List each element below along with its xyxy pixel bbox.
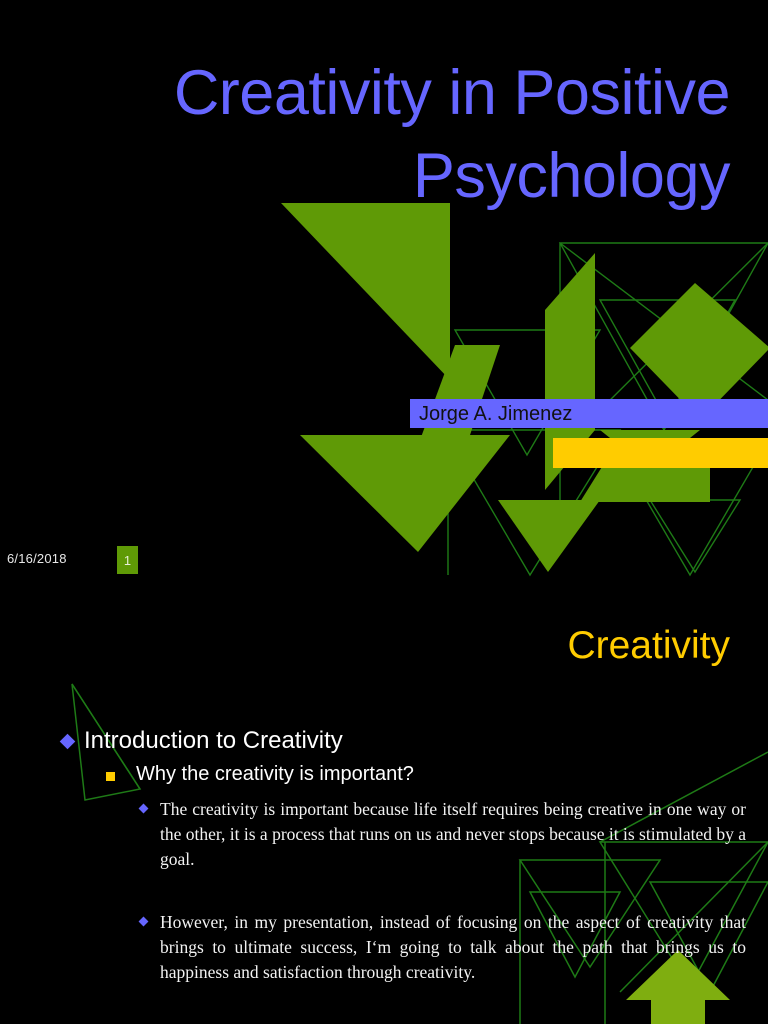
filled-trapezoid-bottom-right: [580, 462, 710, 502]
bullet-text: The creativity is important because life…: [160, 799, 746, 869]
bullet-item-level3: However, in my presentation, instead of …: [48, 910, 754, 986]
slide-1-footer-date: 6/16/2018: [7, 551, 67, 566]
outline-triangle-small-right: [650, 500, 740, 572]
outline-triangle-lower-right: [620, 455, 760, 575]
author-bar: Jorge A. Jimenez: [410, 399, 768, 428]
bullet-text: Why the creativity is important?: [136, 763, 414, 785]
slide-2-content-slide: Creativity Introduction to Creativity Wh…: [0, 592, 768, 1024]
filled-shapes-group: [281, 203, 768, 572]
slide-1-title-block: Creativity in Positive Psychology: [40, 52, 730, 218]
gold-accent-bar: [553, 438, 768, 468]
bullet-item-level3: The creativity is important because life…: [48, 797, 754, 873]
slide-2-heading: Creativity: [40, 625, 730, 668]
diamond-small-bullet-icon: [139, 804, 149, 814]
filled-triangle-big-topleft: [281, 203, 450, 380]
diamond-bullet-icon: [60, 734, 76, 750]
bullet-item-level2: Why the creativity is important?: [48, 762, 754, 787]
outline-triangle-center: [455, 330, 600, 455]
square-bullet-icon: [106, 772, 115, 781]
slide-deck-page: Creativity in Positive Psychology Jorge …: [0, 0, 768, 1024]
filled-triangle-bottom-center: [498, 500, 600, 572]
diamond-small-bullet-icon: [139, 916, 149, 926]
slide-2-bullet-list: Introduction to Creativity Why the creat…: [48, 726, 754, 985]
slide-1-title: Creativity in Positive Psychology: [40, 52, 730, 218]
outline-line-diag-b: [590, 243, 768, 420]
author-name: Jorge A. Jimenez: [410, 404, 572, 424]
outline-line-diag-a: [560, 243, 768, 400]
slide-1-title-slide: Creativity in Positive Psychology Jorge …: [0, 0, 768, 592]
bullet-item-level1: Introduction to Creativity: [48, 726, 754, 756]
filled-triangle-big-bottomleft: [300, 435, 510, 552]
bullet-text: Introduction to Creativity: [84, 727, 343, 754]
slide-1-page-number: 1: [124, 554, 131, 567]
slide-1-page-number-box: 1: [117, 546, 138, 574]
bullet-text: However, in my presentation, instead of …: [160, 912, 746, 982]
